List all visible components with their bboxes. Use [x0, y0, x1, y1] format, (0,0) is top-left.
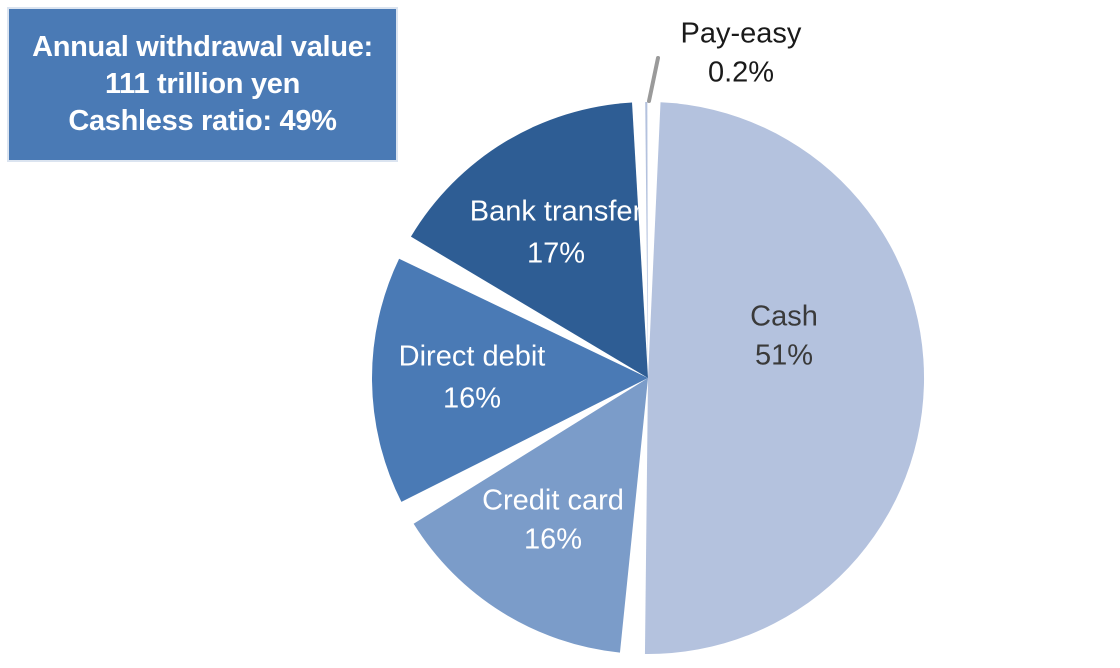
slice-label-bank-transfer-name: Bank transfer: [470, 196, 643, 228]
pie-slice-pay-easy[interactable]: [645, 102, 648, 378]
slice-label-cash-pct: 51%: [755, 340, 813, 372]
chart-canvas: Annual withdrawal value: 111 trillion ye…: [0, 0, 1120, 668]
slice-label-credit-card-name: Credit card: [482, 485, 624, 517]
pay-easy-leader-line: [649, 58, 658, 101]
slice-label-pay-easy-name: Pay-easy: [681, 18, 802, 50]
slice-label-direct-debit-pct: 16%: [443, 383, 501, 415]
slice-label-credit-card-pct: 16%: [524, 524, 582, 556]
slice-label-bank-transfer-pct: 17%: [527, 238, 585, 270]
pie-slice-cash[interactable]: [645, 102, 924, 654]
slice-label-direct-debit-name: Direct debit: [399, 341, 546, 373]
pie-chart: Cash 51% Credit card 16% Direct debit 16…: [0, 0, 1120, 668]
slice-label-pay-easy-pct: 0.2%: [708, 57, 774, 89]
slice-label-cash-name: Cash: [750, 301, 818, 333]
pie-slice-group: [372, 102, 924, 654]
